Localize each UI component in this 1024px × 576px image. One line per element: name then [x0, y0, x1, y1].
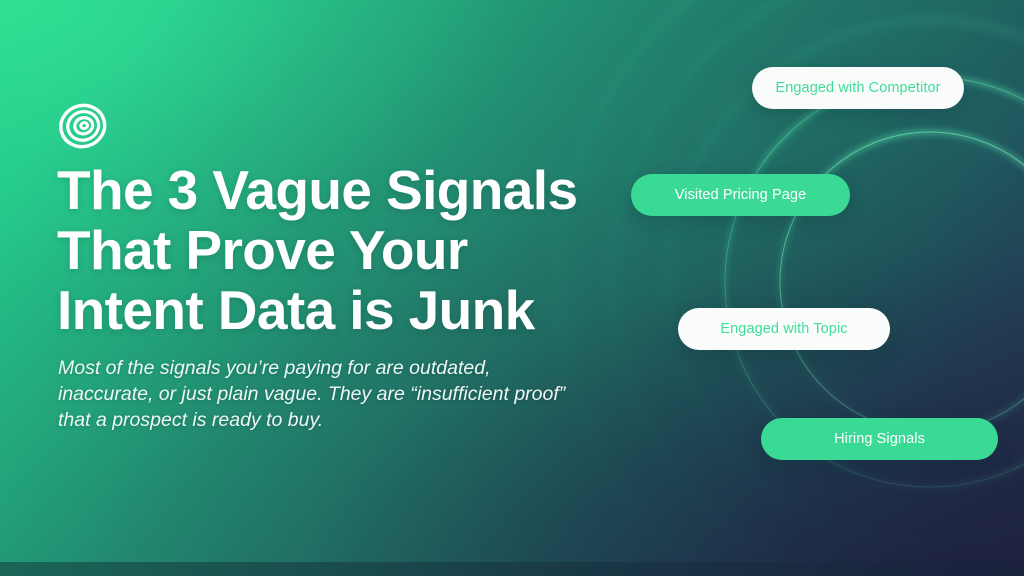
signal-pill-engaged-with-competitor[interactable]: Engaged with Competitor [752, 67, 964, 109]
signal-pill-label: Visited Pricing Page [675, 187, 807, 203]
page-title: The 3 Vague Signals That Prove Your Inte… [57, 160, 617, 340]
subtitle-text: Most of the signals you’re paying for ar… [58, 355, 578, 433]
concentric-spiral-logo-icon [57, 101, 109, 153]
slide-content: The 3 Vague Signals That Prove Your Inte… [57, 0, 617, 576]
signal-pill-label: Engaged with Topic [720, 321, 847, 337]
signal-pill-hiring-signals[interactable]: Hiring Signals [761, 418, 998, 460]
presentation-slide: The 3 Vague Signals That Prove Your Inte… [0, 0, 1024, 576]
signal-pill-visited-pricing-page[interactable]: Visited Pricing Page [631, 174, 850, 216]
signal-pill-label: Hiring Signals [834, 431, 925, 447]
signal-pill-engaged-with-topic[interactable]: Engaged with Topic [678, 308, 890, 350]
signal-pill-label: Engaged with Competitor [775, 80, 940, 96]
